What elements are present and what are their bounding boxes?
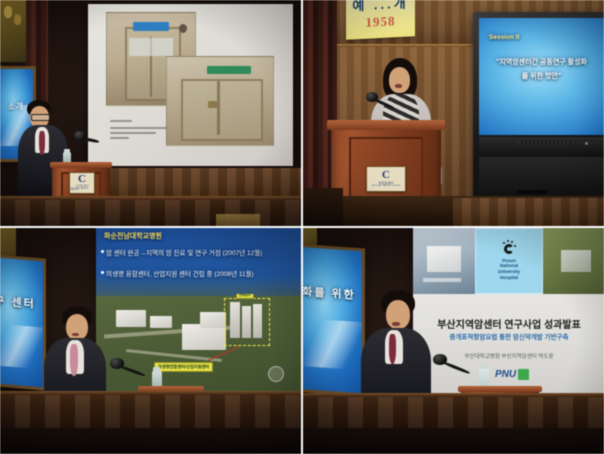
podium-top-edge [327,120,446,130]
door-frame-lower [181,79,263,141]
ray [507,240,509,242]
side-panel-text: 구 센터 [0,292,43,313]
podium-plaque: C 국립암센터 NATIONAL CANCER CENTER [366,166,405,192]
callout-dashed-box [224,298,270,346]
side-display-screen: 구 센터 [0,257,43,388]
stage-front-face [0,395,301,429]
bullet-marker-2 [101,271,104,274]
tv-speaker-grille [519,141,571,145]
campus-building-2 [150,316,172,328]
tv-power-led [585,142,588,145]
floor-left [303,188,343,226]
caption-line [110,132,156,134]
mouth [72,333,79,336]
caption-line [110,127,167,129]
side-panel-text: 화를 위한 [303,282,362,303]
slide-photo-entrance-lower [166,56,274,146]
tv-screen: Session II "지역암센터간 공동연구 활성화 를 위한 방안" [479,18,604,135]
slide-bullet-2: 의생명 융합센터, 산업지원 센터 건립 중 (2008년 11월) [96,268,301,278]
side-display-panel: 구 센터 [0,253,46,390]
slide-bullet-1: 암 센터 완공→지역의 암 진료 및 연구 거점 (2007년 12월) [96,247,301,257]
door-sign-blue [133,22,169,31]
pnu-badge: PNU [489,366,535,382]
caption-line [110,137,129,139]
stage-front-face [453,198,604,226]
mouth [395,84,402,88]
pnu-badge-text: PNU [495,369,516,380]
session-title-line1: "지역암센터간 공동연구 활성화 [479,57,604,67]
side-display-panel: 화를 위한 [303,243,365,396]
podium-top-edge [458,386,542,392]
podium-plaque: C 국립암센터 NATIONAL CANCER CENTER [69,172,94,194]
projection-screen [88,4,293,166]
stage-front-face [303,397,604,429]
pnu-sun-icon [502,242,516,256]
ray [503,242,505,244]
pnu-hospital-logo: Pusan National University Hospital [475,228,543,294]
mouth [392,322,400,326]
stage-front-plaque [216,214,260,226]
necktie [389,334,396,364]
render-building [427,246,461,272]
projection-screen: Pusan National University Hospital 부산지역암… [413,228,604,396]
photo-collage: 소개 [0,0,604,454]
photo-bottom-right: 화를 위한 [303,228,604,454]
session-title-line2: 를 위한 방안" [479,71,604,81]
plaque-logo-c: C [78,174,86,185]
photo-top-right: 예 ...개 1958 Session II "지역암센터간 공동연구 활성화 … [303,0,604,226]
glasses [31,114,50,121]
ray [511,241,513,243]
bottle-cap [64,149,70,153]
green-cross-icon [518,369,529,380]
tv-lower-bezel [479,137,604,155]
plaque-logo-c: C [382,170,390,181]
ceiling-speaker [179,24,187,33]
session-label: Session II [479,34,604,41]
head [66,314,88,340]
plaque-org-en: NATIONAL CANCER CENTER [70,189,93,193]
podium-top-edge [50,162,113,168]
slide-title: 부산지역암센터 연구사업 성과발표 [413,316,604,331]
pnu-logo-line-4: Hospital [500,275,518,281]
photo-top-left: 소개 [0,0,301,226]
callout-label-top: 현재공사 [236,294,254,299]
campus-building-4 [200,312,226,328]
bottle-cap [153,367,160,372]
banner-year: 1958 [346,12,415,32]
plaque-org-en: NATIONAL CANCER CENTER [372,185,401,187]
bottle-cap [480,364,487,369]
stage-floor [303,428,604,454]
screen-glare [303,317,362,371]
tv-stand-slot [517,190,547,194]
stage-floor [0,428,301,454]
screen-glare [0,322,43,371]
head [389,67,410,93]
door-handle [208,101,217,108]
mural-figure [4,6,12,18]
slide-caption-block [110,120,172,142]
photo-bottom-left: 구 센터 화순전남대학교병원 암 센터 완공→지역의 암 진료 및 연구 거점 … [0,228,301,454]
ray [514,245,516,247]
door-center-split-lower [217,81,220,135]
callout-label-bottom: 의생명연합센터/산업지원센터 [154,362,213,372]
render-caption [423,278,461,282]
slide-subtitle: 중개표적항암요법 통한 암신약개발 기반구축 [413,331,604,341]
caption-line [110,120,132,122]
slide-heading: 화순전남대학교병원 [96,231,301,241]
hall-banner: 예 ...개 1958 [346,0,415,40]
stage-back-wall [110,168,301,198]
necktie [39,131,45,155]
campus-building-1 [116,310,146,327]
c-ring [504,244,514,254]
compass-rose [268,366,284,382]
slide-header-band: Pusan National University Hospital [413,228,604,294]
side-display-screen: 화를 위한 [303,247,362,394]
slide-aerial-photo: 현재공사 의생명연합센터/산업지원센터 [96,294,301,393]
bullet-marker-1 [101,250,104,253]
aerial-block [561,250,591,272]
mural-figure-2 [14,14,21,25]
plasma-tv: Session II "지역암센터간 공동연구 활성화 를 위한 방안" [473,12,604,202]
door-sign-green [207,66,251,74]
necktie [70,344,78,376]
door-glass-upper [129,38,173,56]
